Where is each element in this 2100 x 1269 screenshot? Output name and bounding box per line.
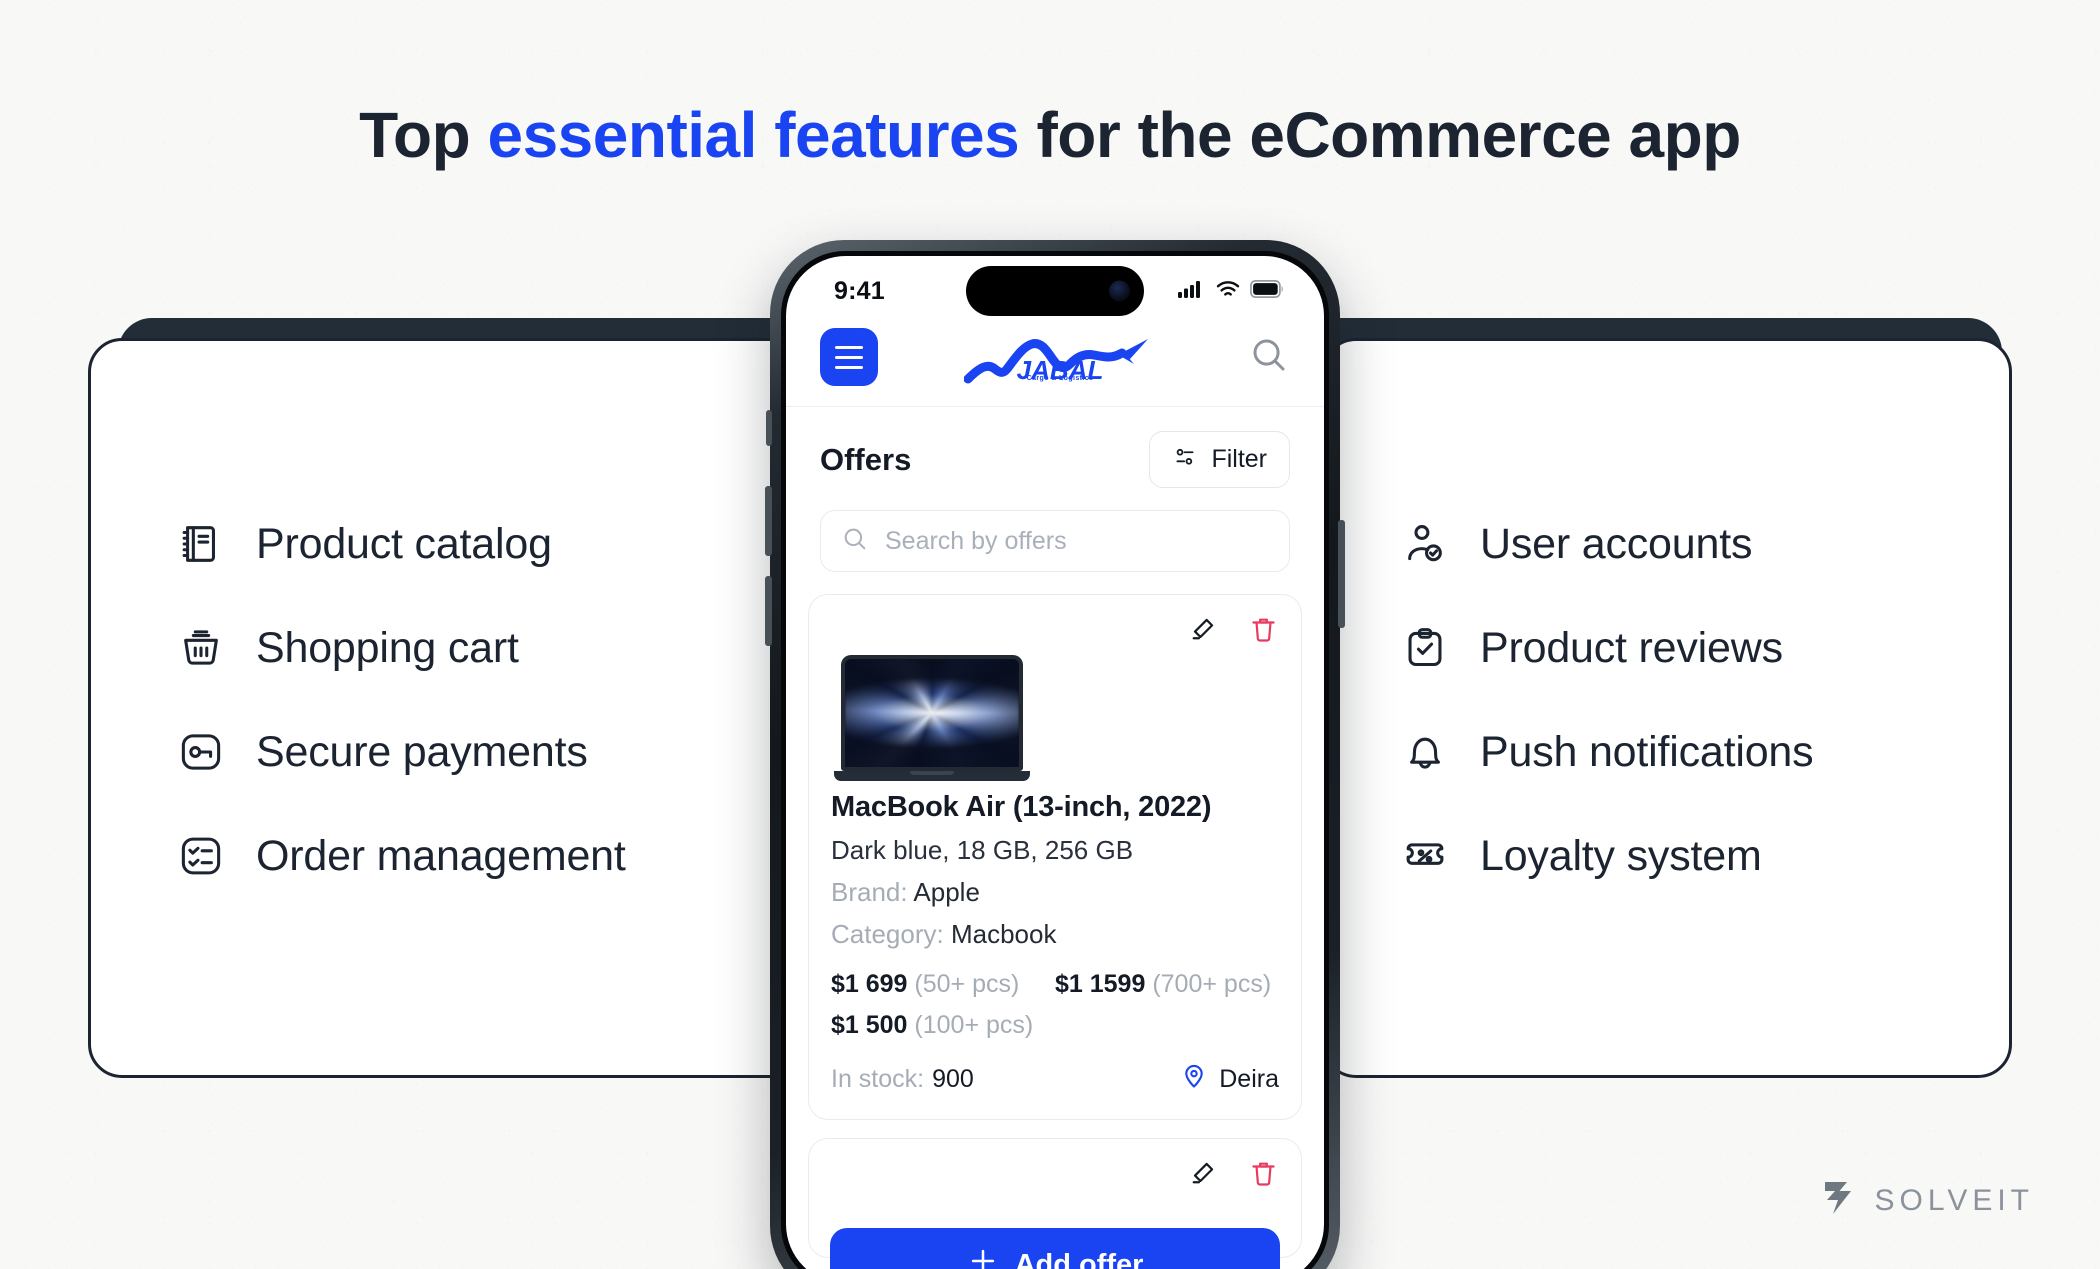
stock-info: In stock:900	[831, 1065, 974, 1094]
wifi-icon	[1215, 279, 1241, 304]
title-accent: essential features	[487, 99, 1019, 171]
left-feature-list: Product catalog Shopping cart Secure	[178, 510, 626, 890]
feature-label: Order management	[256, 832, 626, 881]
solveit-logo-mark	[1821, 1178, 1859, 1223]
plus-icon	[967, 1245, 999, 1269]
filter-button[interactable]: Filter	[1149, 431, 1290, 488]
feature-label: Shopping cart	[256, 624, 519, 673]
offers-heading: Offers	[820, 442, 911, 478]
ticket-percent-icon	[1402, 833, 1448, 879]
offer-card-actions	[831, 615, 1279, 649]
battery-icon	[1250, 280, 1284, 303]
hamburger-menu-icon[interactable]	[820, 328, 878, 386]
feature-label: Secure payments	[256, 728, 588, 777]
stock-value: 900	[932, 1065, 974, 1093]
notebook-icon	[178, 521, 224, 567]
right-feature-list: User accounts Product reviews Push notif…	[1402, 510, 1813, 890]
price-tier: $1 1599 (700+ pcs)	[1055, 970, 1279, 999]
status-icons-group	[1178, 279, 1284, 304]
brand-tagline: Cargo & Logistics	[1027, 375, 1094, 382]
brand-label: Brand:	[831, 877, 908, 907]
map-pin-icon	[1180, 1062, 1208, 1097]
feature-item-product-catalog: Product catalog	[178, 510, 626, 578]
phone-screen: 9:41	[786, 256, 1324, 1269]
feature-item-loyalty-system: Loyalty system	[1402, 822, 1813, 890]
phone-bezel: 9:41	[781, 251, 1329, 1269]
key-square-icon	[178, 729, 224, 775]
cellular-signal-icon	[1178, 279, 1206, 304]
phone-mockup: 9:41	[770, 240, 1340, 1269]
price-tier: $1 500 (100+ pcs)	[831, 1011, 1055, 1040]
price-amount: $1 1599	[1055, 970, 1145, 998]
front-camera-icon	[1109, 281, 1130, 302]
checklist-square-icon	[178, 833, 224, 879]
feature-label: Product catalog	[256, 520, 552, 569]
title-part2: for the eCommerce app	[1019, 99, 1741, 171]
phone-volume-up-button[interactable]	[765, 486, 772, 556]
phone-volume-down-button[interactable]	[765, 576, 772, 646]
price-amount: $1 500	[831, 1011, 907, 1039]
price-qty: (700+ pcs)	[1152, 970, 1271, 998]
price-qty: (50+ pcs)	[914, 970, 1019, 998]
feature-label: User accounts	[1480, 520, 1752, 569]
search-placeholder: Search by offers	[885, 527, 1067, 556]
offer-brand-row: Brand: Apple	[831, 877, 1279, 908]
solveit-logo: SOLVEIT	[1821, 1178, 2034, 1223]
search-icon[interactable]	[1248, 334, 1290, 381]
feature-item-secure-payments: Secure payments	[178, 718, 626, 786]
app-header: JABAL Cargo & Logistics	[786, 318, 1324, 407]
offer-card-actions	[831, 1159, 1279, 1193]
sliders-icon	[1172, 444, 1198, 475]
jabal-brand-logo: JABAL Cargo & Logistics	[964, 333, 1156, 382]
offer-location: Deira	[1180, 1062, 1279, 1097]
trash-delete-icon[interactable]	[1248, 1158, 1279, 1194]
user-check-icon	[1402, 521, 1448, 567]
add-offer-button[interactable]: Add offer	[830, 1228, 1280, 1269]
offers-toolbar: Offers Filter	[786, 407, 1324, 488]
offer-spec: Dark blue, 18 GB, 256 GB	[831, 835, 1279, 866]
page-title: Top essential features for the eCommerce…	[0, 98, 2100, 172]
trash-delete-icon[interactable]	[1248, 614, 1279, 650]
offer-title: MacBook Air (13-inch, 2022)	[831, 791, 1279, 824]
feature-label: Loyalty system	[1480, 832, 1762, 881]
macbook-air-product-image	[831, 649, 1279, 791]
feature-item-user-accounts: User accounts	[1402, 510, 1813, 578]
status-clock: 9:41	[834, 277, 885, 306]
price-qty: (100+ pcs)	[914, 1011, 1033, 1039]
status-bar: 9:41	[786, 256, 1324, 318]
stock-label: In stock:	[831, 1065, 924, 1093]
offer-category-row: Category: Macbook	[831, 919, 1279, 950]
category-label: Category:	[831, 919, 944, 949]
offer-card[interactable]: MacBook Air (13-inch, 2022) Dark blue, 1…	[808, 594, 1302, 1120]
feature-item-product-reviews: Product reviews	[1402, 614, 1813, 682]
clipboard-check-icon	[1402, 625, 1448, 671]
search-input[interactable]: Search by offers	[820, 510, 1290, 572]
price-amount: $1 699	[831, 970, 907, 998]
feature-item-shopping-cart: Shopping cart	[178, 614, 626, 682]
price-tier: $1 699 (50+ pcs)	[831, 970, 1055, 999]
shopping-basket-icon	[178, 625, 224, 671]
feature-label: Product reviews	[1480, 624, 1783, 673]
offer-price-grid: $1 699 (50+ pcs) $1 1599 (700+ pcs) $1 5…	[831, 970, 1279, 1052]
search-icon	[841, 525, 869, 558]
title-part1: Top	[359, 99, 487, 171]
poster-canvas: Top essential features for the eCommerce…	[0, 0, 2100, 1269]
category-value: Macbook	[951, 919, 1057, 949]
phone-power-button[interactable]	[1338, 520, 1345, 628]
bell-icon	[1402, 729, 1448, 775]
brand-value: Apple	[913, 877, 980, 907]
add-offer-label: Add offer	[1015, 1249, 1144, 1269]
location-label: Deira	[1219, 1065, 1279, 1094]
feature-item-push-notifications: Push notifications	[1402, 718, 1813, 786]
filter-label: Filter	[1211, 445, 1267, 474]
pencil-edit-icon[interactable]	[1187, 614, 1218, 650]
phone-mute-button[interactable]	[766, 410, 772, 446]
feature-item-order-management: Order management	[178, 822, 626, 890]
pencil-edit-icon[interactable]	[1187, 1158, 1218, 1194]
dynamic-island	[966, 266, 1144, 316]
feature-label: Push notifications	[1480, 728, 1813, 777]
offers-list: MacBook Air (13-inch, 2022) Dark blue, 1…	[808, 594, 1302, 1258]
solveit-wordmark: SOLVEIT	[1875, 1184, 2034, 1218]
offer-stock-row: In stock:900 Deira	[831, 1062, 1279, 1097]
